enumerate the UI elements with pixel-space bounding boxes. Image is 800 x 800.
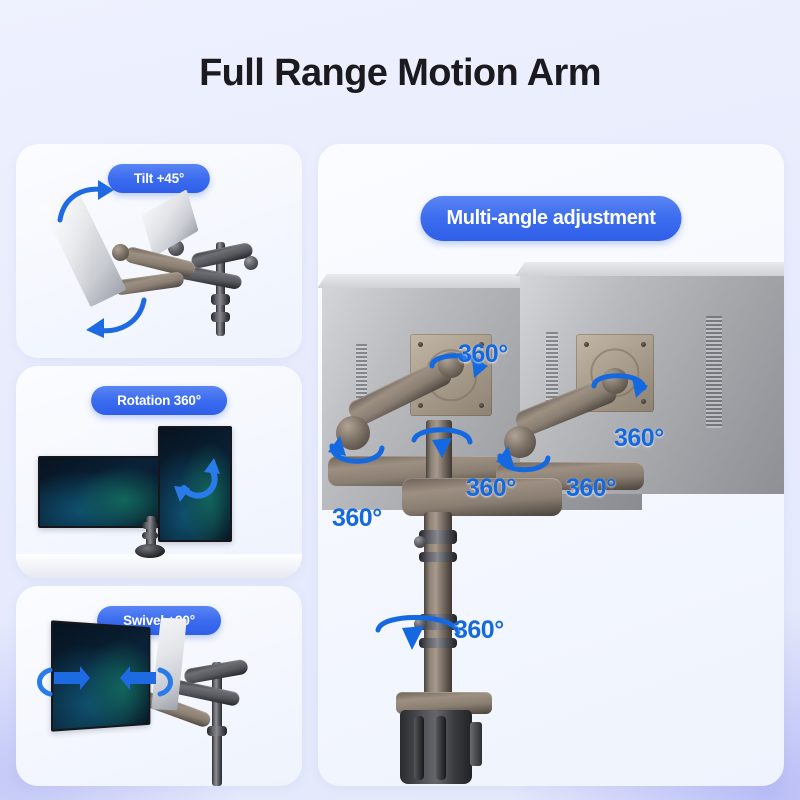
rotation-arc-right-vesa-icon — [588, 366, 650, 410]
joint-right-base — [244, 256, 258, 270]
rotation-arc-center-pole-icon — [408, 424, 478, 468]
mount-pole — [212, 662, 222, 786]
joint-left-head — [112, 244, 129, 261]
dual-monitor-rear-scene: 360° 360° 360° 360° 360° 360° — [318, 144, 784, 786]
circular-rotation-arrow-icon — [168, 452, 224, 508]
rotation-label-left-vesa: 360° — [458, 340, 508, 369]
clamp-screw-post — [470, 722, 482, 766]
clamp-groove-2 — [436, 716, 446, 780]
stand-base — [135, 544, 165, 558]
main-illustration-card: Multi-angle adjustment — [318, 144, 784, 786]
rotation-label-right-vesa: 360° — [614, 424, 664, 453]
pole-collar-2 — [419, 552, 457, 562]
monitor-right-vent-b — [706, 316, 722, 428]
rotation-label-center-pole: 360° — [466, 474, 516, 503]
monitor-right-tilted — [142, 189, 199, 257]
feature-card-swivel: Swivel +90° — [16, 586, 302, 786]
rotation-label-left-arm-base: 360° — [332, 504, 382, 533]
rotation-label-right-crossbar: 360° — [566, 474, 616, 503]
rotation-arc-lower-pole-icon — [370, 610, 466, 662]
pole-screw-1 — [414, 536, 426, 548]
pole-ring-2 — [142, 532, 158, 539]
tilt-arrow-up-icon — [54, 178, 124, 228]
swivel-arrow-left-icon — [32, 660, 90, 704]
feature-card-tilt: Tilt +45° — [16, 144, 302, 358]
rotation-illustration — [16, 366, 302, 578]
pole-collar — [211, 294, 230, 305]
pole-collar-2 — [211, 312, 230, 322]
tilt-arrow-down-icon — [78, 292, 156, 340]
swivel-illustration — [16, 586, 302, 786]
infographic-stage: Full Range Motion Arm Tilt +45° — [0, 0, 800, 800]
clamp-groove-1 — [414, 716, 424, 780]
page-title: Full Range Motion Arm — [0, 52, 800, 95]
monitor-landscape — [38, 456, 162, 528]
pole-ring-1 — [142, 522, 158, 529]
swivel-arrow-right-icon — [120, 660, 178, 704]
pole-collar — [207, 726, 227, 736]
rotation-arc-left-base-icon — [326, 430, 390, 476]
feature-card-rotation: Rotation 360° — [16, 366, 302, 578]
tilt-illustration — [16, 144, 302, 358]
desk-surface — [16, 554, 302, 578]
rotation-label-lower-pole: 360° — [454, 616, 504, 645]
monitor-right-top-bevel — [515, 262, 784, 276]
